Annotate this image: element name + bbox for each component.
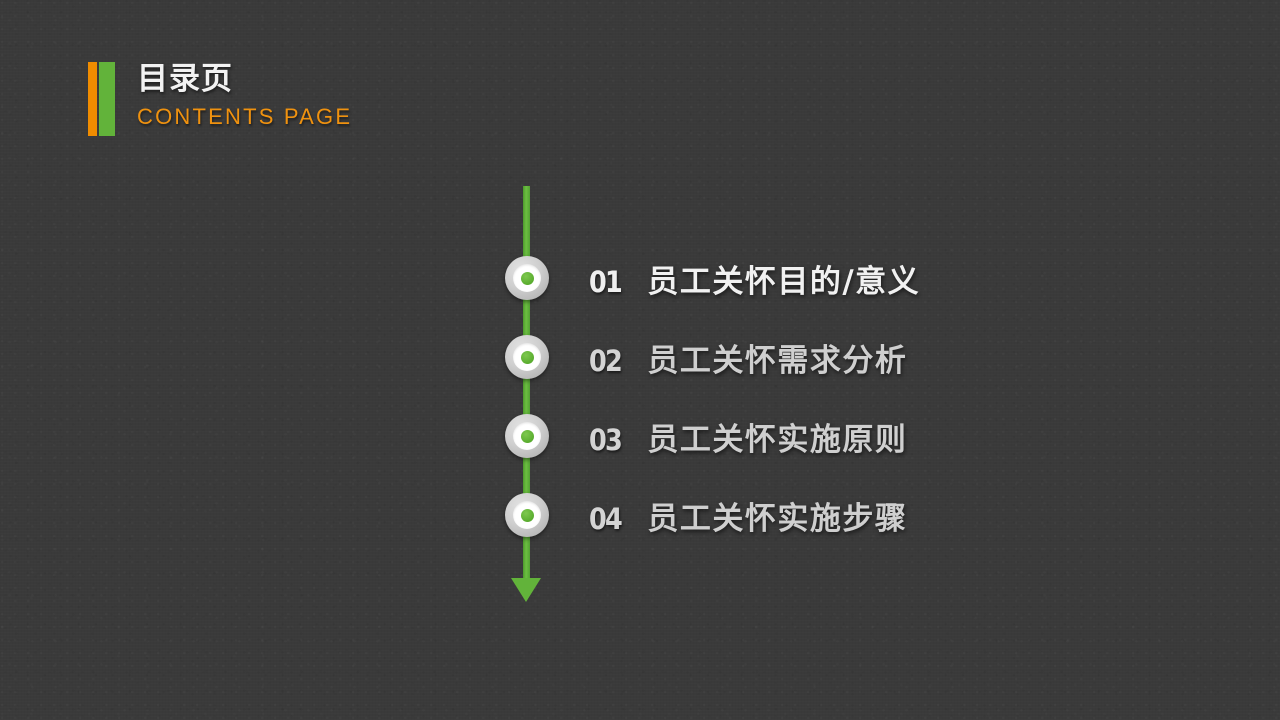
timeline-marker-dot — [521, 430, 534, 443]
contents-item-body: 01 员工关怀目的/意义 — [589, 256, 920, 301]
timeline-marker-inner — [513, 264, 541, 292]
timeline-marker-inner — [513, 422, 541, 450]
header-text-group: 目录页 CONTENTS PAGE — [137, 60, 352, 130]
timeline-marker-dot — [521, 509, 534, 522]
contents-item-body: 03 员工关怀实施原则 — [589, 414, 907, 459]
header-accent-bars — [88, 62, 115, 136]
slide-header: 目录页 CONTENTS PAGE — [88, 60, 352, 136]
timeline-marker-icon — [505, 335, 549, 379]
timeline-marker-dot — [521, 351, 534, 364]
timeline-marker-icon — [505, 493, 549, 537]
timeline-marker-inner — [513, 343, 541, 371]
timeline-arrow-down-icon — [511, 578, 541, 602]
contents-item-label: 员工关怀实施原则 — [647, 414, 907, 459]
timeline-marker-icon — [505, 256, 549, 300]
contents-item-label: 员工关怀目的/意义 — [647, 256, 920, 301]
contents-item-number: 01 — [589, 265, 621, 299]
timeline-marker-icon — [505, 414, 549, 458]
contents-item-number: 04 — [589, 502, 621, 536]
page-subtitle: CONTENTS PAGE — [137, 104, 352, 130]
page-title: 目录页 — [137, 60, 352, 98]
contents-item-label: 员工关怀需求分析 — [647, 335, 907, 380]
contents-slide: 目录页 CONTENTS PAGE 01 员工关怀目的/意义 — [0, 0, 1280, 720]
timeline-marker-inner — [513, 501, 541, 529]
contents-item-body: 02 员工关怀需求分析 — [589, 335, 907, 380]
orange-accent-bar — [88, 62, 97, 136]
contents-item-body: 04 员工关怀实施步骤 — [589, 493, 907, 538]
green-accent-bar — [99, 62, 115, 136]
timeline-marker-dot — [521, 272, 534, 285]
contents-item-number: 02 — [589, 344, 621, 378]
contents-item-number: 03 — [589, 423, 621, 457]
contents-item-label: 员工关怀实施步骤 — [647, 493, 907, 538]
